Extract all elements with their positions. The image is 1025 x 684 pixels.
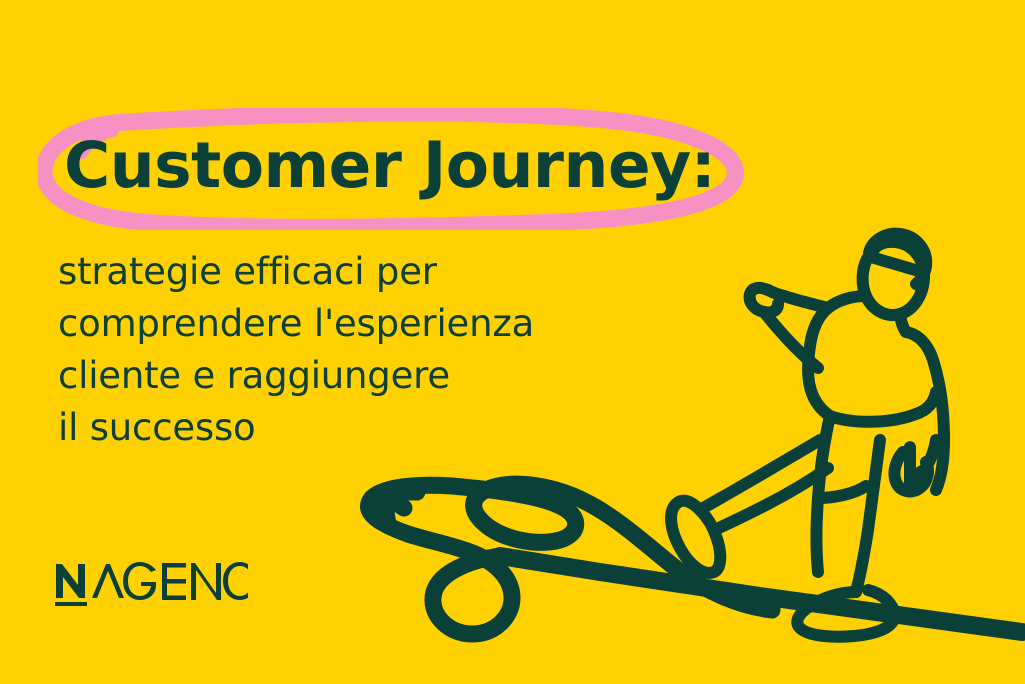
logo-letter-n2-icon [191,563,221,600]
shoe-standing-icon [797,590,894,637]
logo-letter-g-icon [123,562,156,600]
subtitle-line: il successo [58,402,678,454]
leg-raised-lower-icon [714,468,828,530]
leg-raised-icon [700,440,820,510]
logo-letter-n-icon [56,564,85,598]
hat-icon [869,234,926,284]
torso-icon [906,332,944,490]
neck-icon [900,314,906,332]
title-wrap: Customer Journey: [38,108,758,230]
logo-letter-e-top-icon [162,563,186,568]
logo-underline-icon [55,602,87,606]
arm-left-icon [768,290,828,308]
logo-letter-a-icon [92,564,124,598]
arm-right-icon [924,440,936,470]
subtitle-line: cliente e raggiungere [58,350,678,402]
nagency-logo[interactable] [52,558,248,604]
torso-left-icon [808,296,866,416]
arm-left-lower-icon [764,312,818,368]
page-subtitle: strategie efficaci per comprendere l'esp… [58,246,678,454]
head-icon [863,242,924,315]
logo-letter-c-icon [223,562,248,600]
walking-person-figure [671,234,944,637]
page-title: Customer Journey: [64,124,715,208]
nagency-logo-icon [52,558,248,606]
fist-left-icon [750,288,778,313]
logo-letter-e-bottom-icon [162,596,186,601]
subtitle-line: comprendere l'esperienza [58,298,678,350]
leg-standing-inner-icon [817,416,831,572]
headline-block: Customer Journey: strategie efficaci per… [0,0,700,684]
logo-letter-e-mid-icon [162,579,186,584]
hand-right-icon [894,452,928,491]
subtitle-line: strategie efficaci per [58,246,678,298]
jacket-hem-icon [830,392,936,422]
hat-brim-icon [871,257,922,272]
fist-right-icon [910,447,924,488]
leg-standing-icon [856,440,880,592]
promo-banner: Customer Journey: strategie efficaci per… [0,0,1025,684]
crotch-icon [818,486,866,498]
